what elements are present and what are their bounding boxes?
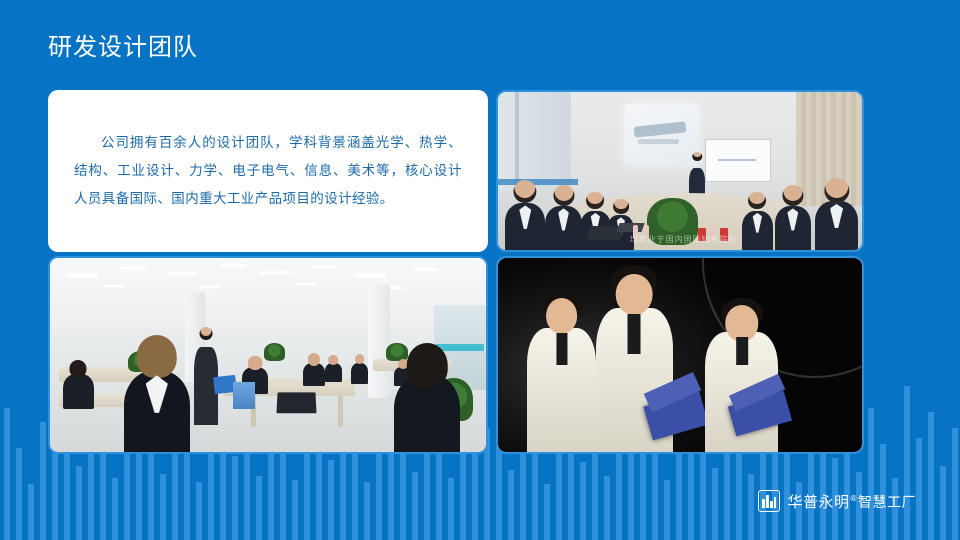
decorative-bar: [76, 466, 82, 540]
lab-scene: [498, 258, 862, 452]
office-storage-boxes: [233, 382, 255, 409]
decorative-bar: [640, 452, 646, 540]
page-title: 研发设计团队: [48, 33, 198, 63]
decorative-bar: [904, 386, 910, 540]
decorative-bar: [292, 480, 298, 540]
decorative-bar: [196, 482, 202, 540]
brand-suffix: 智慧工厂: [858, 495, 916, 511]
photo-lab-team: [496, 256, 864, 454]
decorative-bar: [868, 408, 874, 540]
meeting-attendee: [545, 206, 581, 250]
description-card: 公司拥有百余人的设计团队，学科背景涵盖光学、热学、结构、工业设计、力学、电子电气…: [48, 90, 488, 252]
decorative-bar: [256, 476, 262, 540]
decorative-bar: [388, 450, 394, 540]
meeting-laptop: [616, 223, 645, 232]
office-plant: [264, 343, 286, 360]
photo-open-office: [48, 256, 488, 454]
photo-meeting-room-image: 均毕业于国内国际知名院校: [498, 92, 862, 250]
meeting-left-wall: [498, 92, 571, 190]
meeting-projection-screen: [625, 105, 698, 165]
decorative-bar: [664, 480, 670, 540]
registered-mark: ®: [850, 494, 859, 503]
decorative-bar: [160, 474, 166, 540]
decorative-bar: [604, 476, 610, 540]
photo-watermark: 均毕业于国内国际知名院校: [600, 234, 767, 245]
brand-name: 华普永明®智慧工厂: [787, 491, 916, 512]
decorative-bar: [112, 478, 118, 540]
decorative-bar: [532, 446, 538, 540]
meeting-whiteboard: [705, 139, 771, 182]
office-column: [368, 285, 390, 398]
decorative-bar: [544, 484, 550, 540]
decorative-bar: [184, 442, 190, 540]
lab-blue-folder: [728, 390, 793, 436]
company-mark-icon: [758, 490, 780, 512]
decorative-bar: [508, 470, 514, 540]
photo-open-office-image: [50, 258, 486, 452]
meeting-scene: 均毕业于国内国际知名院校: [498, 92, 862, 250]
decorative-bar: [928, 412, 934, 540]
office-worker: [351, 363, 368, 384]
brand-company-name: 华普永明: [787, 493, 849, 511]
office-ceiling: [50, 258, 486, 328]
decorative-bar: [28, 484, 34, 540]
decorative-bar: [232, 456, 238, 540]
meeting-attendee: [775, 206, 811, 250]
photo-meeting-room: 均毕业于国内国际知名院校: [496, 90, 864, 252]
photo-lab-team-image: [498, 258, 862, 452]
decorative-bar: [916, 438, 922, 540]
decorative-bar: [688, 442, 694, 540]
office-worker: [325, 363, 342, 382]
decorative-bar: [952, 428, 958, 540]
decorative-bar: [364, 482, 370, 540]
decorative-bar: [4, 408, 10, 540]
decorative-bar: [436, 440, 442, 540]
decorative-bar: [124, 452, 130, 540]
decorative-bar: [448, 478, 454, 540]
office-foreground-employee: [394, 374, 459, 452]
decorative-bar: [280, 444, 286, 540]
decorative-bar: [412, 472, 418, 540]
slide-canvas: 研发设计团队 公司拥有百余人的设计团队，学科背景涵盖光学、热学、结构、工业设计、…: [0, 0, 960, 540]
office-desk-leg: [338, 396, 343, 427]
office-foreground-employee: [124, 371, 189, 452]
office-worker: [303, 363, 325, 386]
decorative-bar: [40, 422, 46, 540]
decorative-bar: [16, 448, 22, 540]
decorative-bar: [748, 474, 754, 540]
decorative-bar: [940, 466, 946, 540]
office-laptop: [276, 392, 316, 413]
office-scene: [50, 258, 486, 452]
meeting-attendee: [815, 201, 859, 250]
meeting-attendee: [505, 203, 545, 250]
description-text: 公司拥有百余人的设计团队，学科背景涵盖光学、热学、结构、工业设计、力学、电子电气…: [48, 129, 488, 213]
brand-logo: 华普永明®智慧工厂: [758, 490, 916, 512]
decorative-bar: [472, 454, 478, 540]
decorative-bar: [712, 468, 718, 540]
lab-engineer: [527, 328, 596, 452]
office-worker: [63, 374, 94, 409]
decorative-bar: [328, 460, 334, 540]
decorative-bar: [580, 462, 586, 540]
